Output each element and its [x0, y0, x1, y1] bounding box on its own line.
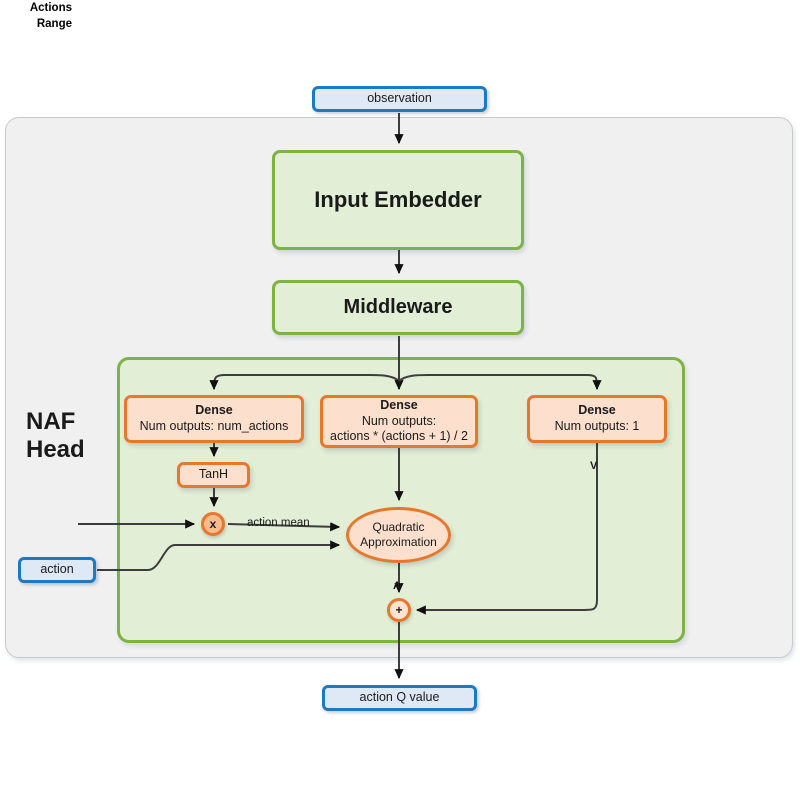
dense-value-title: Dense — [578, 403, 616, 419]
diagram-canvas: observation Input Embedder Middleware NA… — [0, 0, 800, 800]
dense-actions-title: Dense — [195, 403, 233, 419]
quadratic-approximation-line1: Quadratic — [372, 520, 424, 535]
quadratic-approximation-line2: Approximation — [360, 535, 437, 550]
action-q-value-label: action Q value — [360, 690, 440, 706]
action-mean-edge-label: action mean — [247, 517, 310, 529]
actions-range-line2: Range — [0, 16, 72, 32]
action-label: action — [40, 562, 73, 578]
quadratic-approximation-node[interactable]: Quadratic Approximation — [346, 507, 451, 563]
dense-quadratic-terms-block[interactable]: Dense Num outputs: actions * (actions + … — [320, 395, 478, 448]
advantage-edge-label: A — [393, 580, 401, 592]
naf-head-label-line2: Head — [26, 436, 112, 464]
middleware-label: Middleware — [344, 295, 453, 320]
actions-range-line1: Actions — [0, 0, 72, 16]
input-embedder-block[interactable]: Input Embedder — [272, 150, 524, 250]
middleware-block[interactable]: Middleware — [272, 280, 524, 335]
dense-quadratic-detail-line1: Num outputs: — [362, 414, 436, 430]
actions-range-label: Actions Range — [0, 0, 72, 32]
tanh-activation-block[interactable]: TanH — [177, 462, 250, 488]
observation-label: observation — [367, 91, 432, 107]
naf-head-label-line1: NAF — [26, 408, 112, 436]
action-q-value-output-box[interactable]: action Q value — [322, 685, 477, 711]
dense-quadratic-title: Dense — [380, 398, 418, 414]
input-embedder-label: Input Embedder — [314, 186, 481, 214]
value-edge-label: V — [590, 460, 597, 472]
observation-input-box[interactable]: observation — [312, 86, 487, 112]
dense-actions-detail: Num outputs: num_actions — [140, 419, 289, 435]
dense-value-detail: Num outputs: 1 — [555, 419, 640, 435]
naf-head-label: NAF Head — [26, 408, 112, 465]
dense-value-block[interactable]: Dense Num outputs: 1 — [527, 395, 667, 443]
add-symbol: + — [395, 603, 402, 618]
dense-quadratic-detail-line2: actions * (actions + 1) / 2 — [330, 429, 468, 445]
multiply-symbol: x — [210, 517, 217, 532]
tanh-label: TanH — [199, 467, 228, 483]
multiply-operator[interactable]: x — [201, 512, 225, 536]
action-input-box[interactable]: action — [18, 557, 96, 583]
dense-num-actions-block[interactable]: Dense Num outputs: num_actions — [124, 395, 304, 443]
add-operator[interactable]: + — [387, 598, 411, 622]
